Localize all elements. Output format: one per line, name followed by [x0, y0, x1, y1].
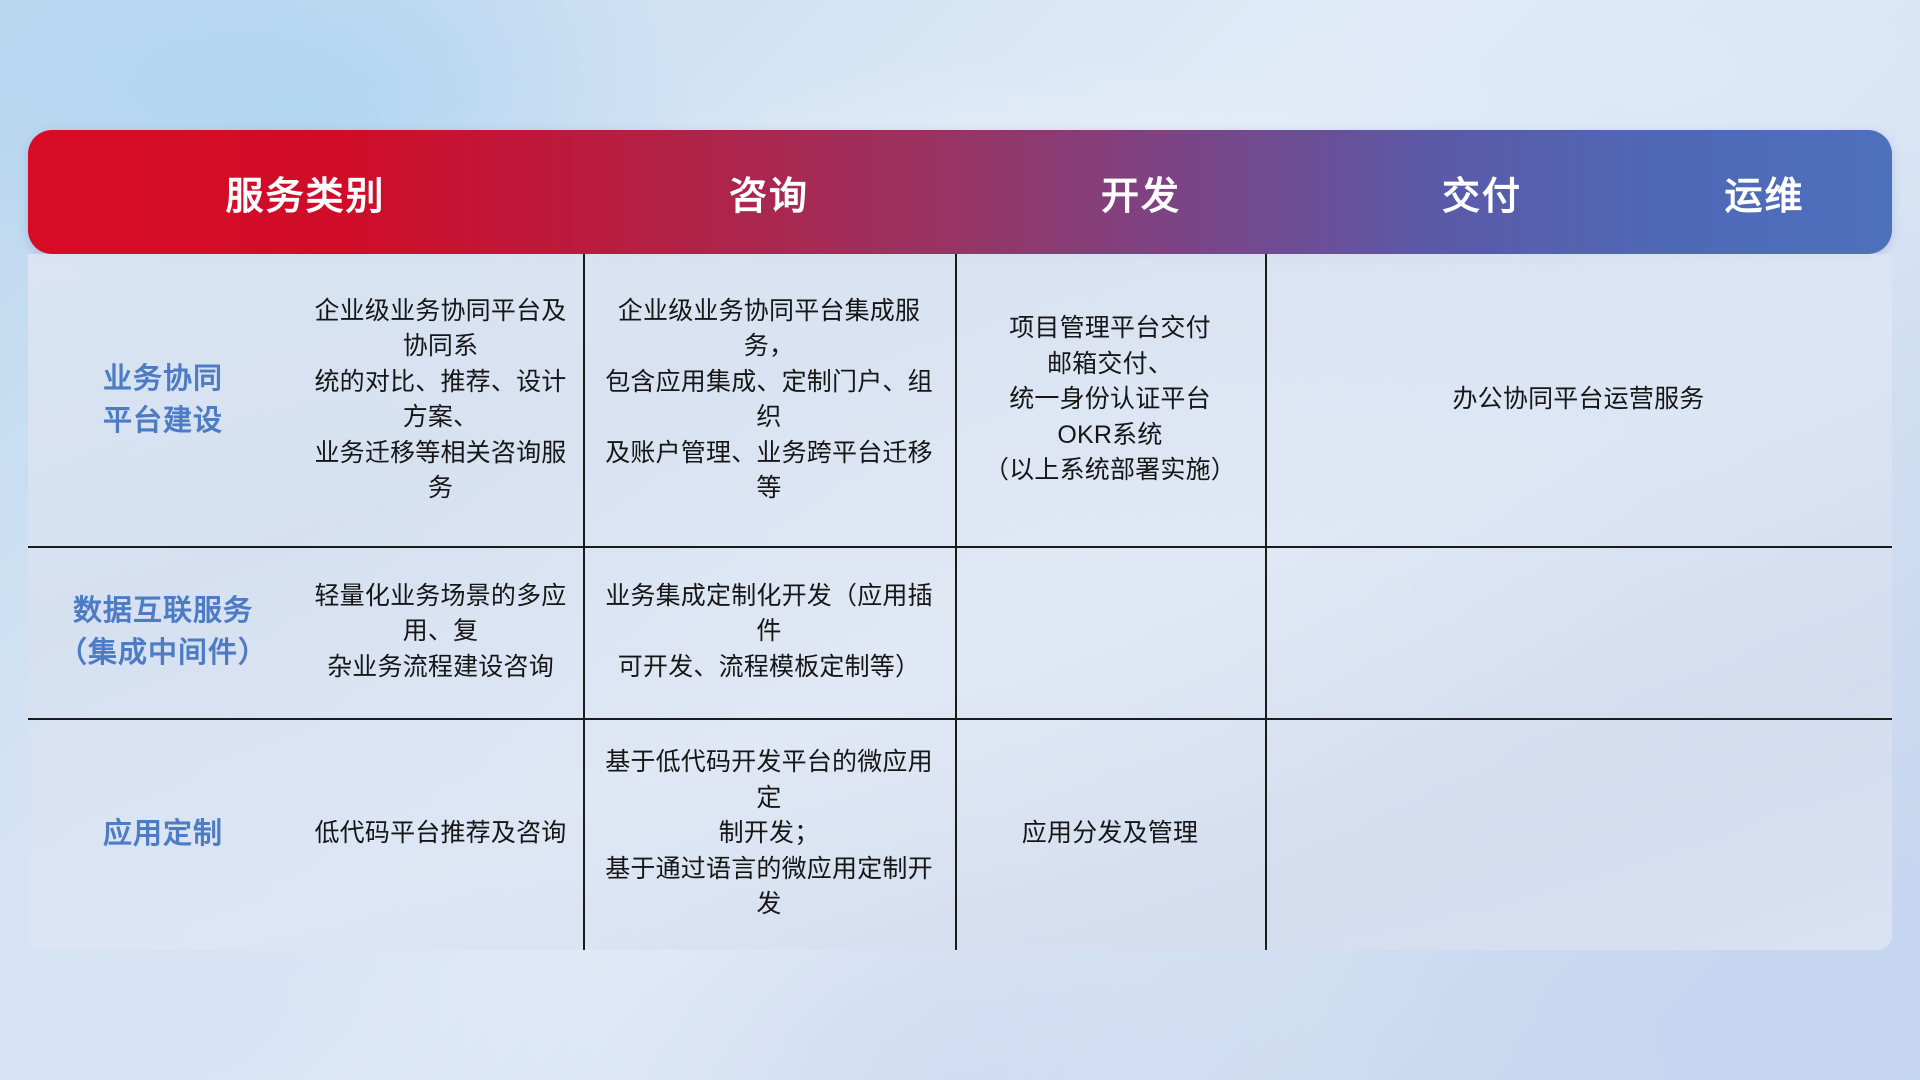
service-matrix-table: 服务类别 咨询 开发 交付 运维 业务协同 平台建设 企业级业务协同平台及协同系…	[28, 130, 1892, 950]
column-divider	[955, 254, 957, 950]
cell-text: 企业级业务协同平台集成服务， 包含应用集成、定制门户、组织 及账户管理、业务跨平…	[599, 294, 939, 507]
row-divider	[28, 718, 1892, 720]
cell-consulting: 企业级业务协同平台及协同系 统的对比、推荐、设计方案、 业务迁移等相关咨询服务	[298, 254, 583, 546]
table-row: 业务协同 平台建设	[28, 254, 298, 546]
column-divider	[1265, 254, 1267, 950]
cell-text: 办公协同平台运营服务	[1452, 382, 1704, 418]
column-header-development: 开发	[955, 165, 1327, 220]
cell-operations	[1265, 718, 1892, 950]
row-divider	[28, 546, 1892, 548]
column-header-operations: 运维	[1637, 165, 1892, 220]
cell-consulting: 低代码平台推荐及咨询	[298, 718, 583, 950]
cell-development: 基于低代码开发平台的微应用定 制开发； 基于通过语言的微应用定制开发	[583, 718, 955, 950]
cell-delivery: 应用分发及管理	[955, 718, 1265, 950]
cell-text: 轻量化业务场景的多应用、复 杂业务流程建设咨询	[314, 579, 567, 686]
table-body: 业务协同 平台建设 企业级业务协同平台及协同系 统的对比、推荐、设计方案、 业务…	[28, 254, 1892, 950]
column-divider	[583, 254, 585, 950]
cell-text: 基于低代码开发平台的微应用定 制开发； 基于通过语言的微应用定制开发	[599, 745, 939, 923]
cell-consulting: 轻量化业务场景的多应用、复 杂业务流程建设咨询	[298, 546, 583, 718]
cell-delivery: 项目管理平台交付 邮箱交付、 统一身份认证平台 OKR系统 （以上系统部署实施）	[955, 254, 1265, 546]
row-category-label: 数据互联服务 （集成中间件）	[58, 590, 268, 674]
cell-delivery	[955, 546, 1265, 718]
row-category-label: 应用定制	[103, 813, 223, 855]
cell-text: 企业级业务协同平台及协同系 统的对比、推荐、设计方案、 业务迁移等相关咨询服务	[314, 294, 567, 507]
cell-text: 项目管理平台交付 邮箱交付、 统一身份认证平台 OKR系统 （以上系统部署实施）	[984, 311, 1236, 489]
cell-operations: 办公协同平台运营服务	[1265, 254, 1892, 546]
cell-text: 低代码平台推荐及咨询	[314, 816, 566, 852]
column-header-consulting: 咨询	[583, 165, 955, 220]
table-header-row: 服务类别 咨询 开发 交付 运维	[28, 130, 1892, 254]
cell-text: 应用分发及管理	[1022, 816, 1198, 852]
column-header-category: 服务类别	[28, 165, 583, 220]
cell-operations	[1265, 546, 1892, 718]
cell-text: 业务集成定制化开发（应用插件 可开发、流程模板定制等）	[599, 579, 939, 686]
cell-development: 业务集成定制化开发（应用插件 可开发、流程模板定制等）	[583, 546, 955, 718]
row-category-label: 业务协同 平台建设	[103, 358, 223, 442]
table-row: 应用定制	[28, 718, 298, 950]
cell-development: 企业级业务协同平台集成服务， 包含应用集成、定制门户、组织 及账户管理、业务跨平…	[583, 254, 955, 546]
table-row: 数据互联服务 （集成中间件）	[28, 546, 298, 718]
column-header-delivery: 交付	[1327, 165, 1637, 220]
